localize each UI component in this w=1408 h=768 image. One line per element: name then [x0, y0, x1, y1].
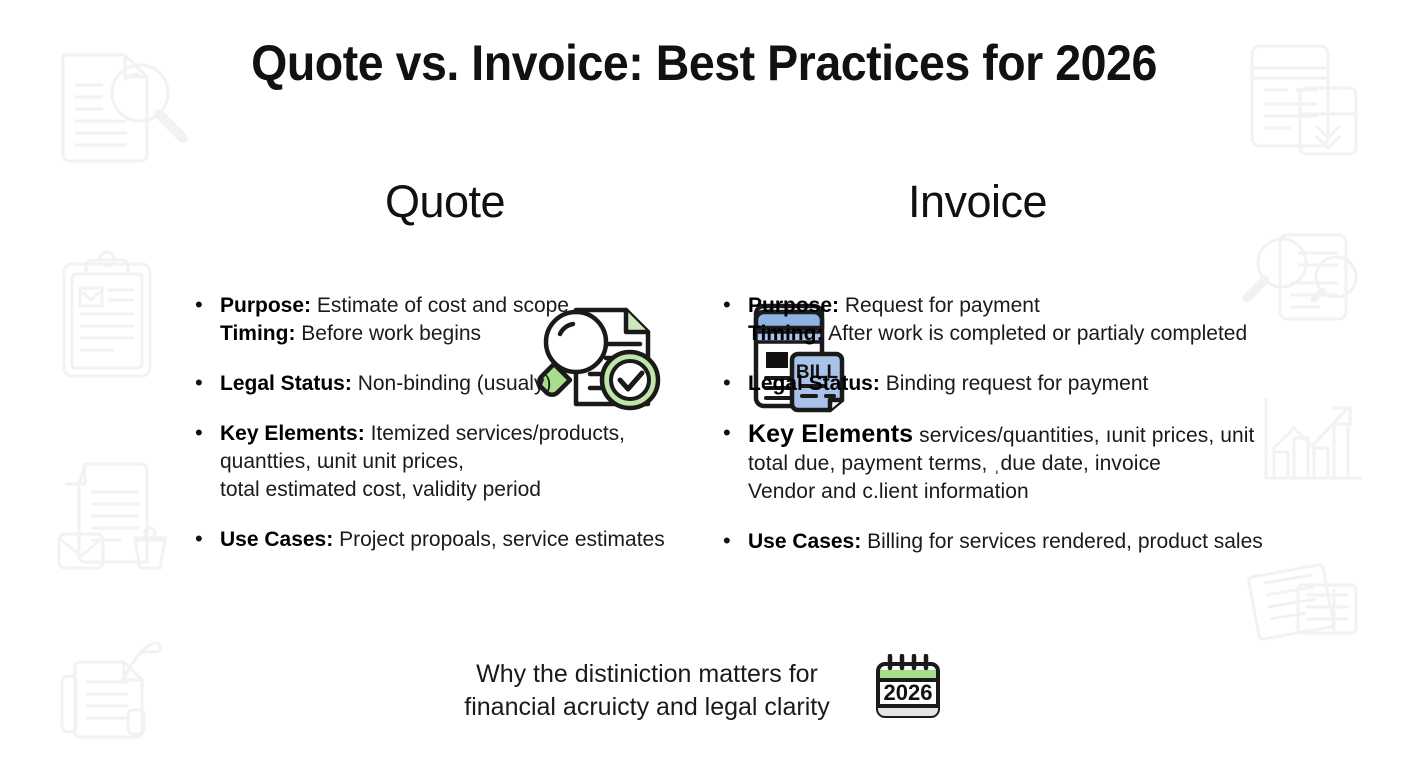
- invoice-bullet-list: Purpose: Request for payment Timing: Aft…: [718, 292, 1278, 556]
- bullet-label: Key Elements:: [220, 422, 365, 445]
- list-item: Purpose: Estimate of cost and scope Timi…: [190, 292, 710, 348]
- list-item: Key Elements: Itemized services/products…: [190, 420, 710, 504]
- bullet-line2: total due, payment terms, ˌdue date, inv…: [748, 450, 1278, 478]
- bullet-line3: Vendor and c.lient information: [748, 478, 1278, 506]
- bullet-label: Use Cases:: [220, 528, 333, 551]
- bullet-label: Use Cases:: [748, 530, 861, 553]
- bullet-line2: quantties, ɯnit unit prices,: [220, 448, 710, 476]
- footer-line-2: financial acruicty and legal clarity: [464, 691, 829, 724]
- list-item: Legal Status: Non-binding (usualy): [190, 370, 710, 398]
- list-item: Use Cases: Billing for services rendered…: [718, 528, 1278, 556]
- list-item: Purpose: Request for payment Timing: Aft…: [718, 292, 1278, 348]
- quote-column: Purpose: Estimate of cost and scope Timi…: [190, 292, 710, 576]
- bullet-label: Key Elements: [748, 420, 913, 448]
- bullet-label: Purpose:: [748, 294, 839, 317]
- bullet-text: Estimate of cost and scope: [311, 294, 569, 317]
- bullet-text: Binding request for payment: [880, 372, 1149, 395]
- list-item: Key Elements services/quantities, ıunit …: [718, 420, 1278, 506]
- bullet-text: Billing for services rendered, product s…: [861, 530, 1263, 553]
- invoice-column: Purpose: Request for payment Timing: Aft…: [718, 292, 1278, 578]
- quote-bullet-list: Purpose: Estimate of cost and scope Timi…: [190, 292, 710, 554]
- calendar-2026-icon: 2026: [872, 654, 944, 729]
- list-item: Use Cases: Project propoals, service est…: [190, 526, 710, 554]
- bullet-text: services/quantities, ıunit prices, unit: [913, 424, 1254, 447]
- bullet-subline: Timing: After work is completed or parti…: [748, 320, 1278, 348]
- page-title: Quote vs. Invoice: Best Practices for 20…: [49, 34, 1358, 92]
- bullet-label: Legal Status:: [748, 372, 880, 395]
- column-heading-quote: Quote: [385, 176, 505, 228]
- bullet-line3: total estimated cost, validity period: [220, 476, 710, 504]
- bullet-text: Project propoals, service estimates: [333, 528, 664, 551]
- bullet-label: Purpose:: [220, 294, 311, 317]
- watermark-document-envelope: [45, 450, 175, 580]
- footer-caption: Why the distiniction matters for financi…: [464, 658, 829, 724]
- bullet-subline: Timing: Before work begins: [220, 320, 710, 348]
- bullet-sub-label: Timing:: [748, 322, 823, 345]
- footer-line-1: Why the distiniction matters for: [464, 658, 829, 691]
- calendar-year-label: 2026: [883, 680, 932, 705]
- bullet-sub-text: After work is completed or partialy comp…: [823, 322, 1247, 345]
- bullet-sub-text: Before work begins: [295, 322, 481, 345]
- list-item: Legal Status: Binding request for paymen…: [718, 370, 1278, 398]
- column-heading-invoice: Invoice: [908, 176, 1047, 228]
- column-headers: Quote: [0, 148, 1408, 278]
- bullet-label: Legal Status:: [220, 372, 352, 395]
- bullet-text: Non-binding (usualy): [352, 372, 552, 395]
- bullet-sub-label: Timing:: [220, 322, 295, 345]
- footer: Why the distiniction matters for financi…: [0, 652, 1408, 729]
- bullet-text: Itemized services/products,: [365, 422, 625, 445]
- bullet-text: Request for payment: [839, 294, 1040, 317]
